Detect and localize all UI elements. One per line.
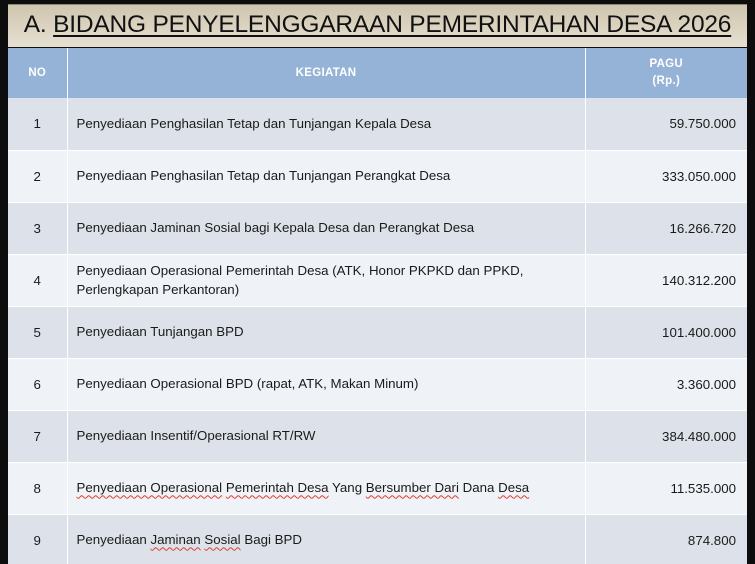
cell-no: 4 xyxy=(8,254,67,306)
column-header-kegiatan: KEGIATAN xyxy=(67,48,585,98)
cell-pagu: 16.266.720 xyxy=(585,202,747,254)
cell-kegiatan: Penyediaan Jaminan Sosial bagi Kepala De… xyxy=(67,202,585,254)
cell-kegiatan: Penyediaan Operasional Pemerintah Desa (… xyxy=(67,254,585,306)
table-body: 1Penyediaan Penghasilan Tetap dan Tunjan… xyxy=(8,98,747,564)
column-header-pagu-line2: (Rp.) xyxy=(652,75,680,87)
cell-kegiatan: Penyediaan Operasional Pemerintah Desa Y… xyxy=(67,462,585,514)
slide-title-banner: A. BIDANG PENYELENGGARAAN PEMERINTAHAN D… xyxy=(8,4,747,47)
cell-pagu: 333.050.000 xyxy=(585,150,747,202)
cell-kegiatan: Penyediaan Penghasilan Tetap dan Tunjang… xyxy=(67,98,585,150)
column-header-no: NO xyxy=(8,48,67,98)
table-row: 4Penyediaan Operasional Pemerintah Desa … xyxy=(8,254,747,306)
cell-kegiatan: Penyediaan Tunjangan BPD xyxy=(67,306,585,358)
page-title-main: BIDANG PENYELENGGARAAN PEMERINTAHAN DESA… xyxy=(53,11,731,38)
cell-no: 1 xyxy=(8,98,67,150)
table-row: 8Penyediaan Operasional Pemerintah Desa … xyxy=(8,462,747,514)
table-row: 1Penyediaan Penghasilan Tetap dan Tunjan… xyxy=(8,98,747,150)
table-row: 5Penyediaan Tunjangan BPD101.400.000 xyxy=(8,306,747,358)
cell-no: 3 xyxy=(8,202,67,254)
cell-pagu: 11.535.000 xyxy=(585,462,747,514)
table-row: 6Penyediaan Operasional BPD (rapat, ATK,… xyxy=(8,358,747,410)
table-row: 7Penyediaan Insentif/Operasional RT/RW38… xyxy=(8,410,747,462)
cell-pagu: 59.750.000 xyxy=(585,98,747,150)
cell-kegiatan: Penyediaan Insentif/Operasional RT/RW xyxy=(67,410,585,462)
column-header-pagu-line1: PAGU xyxy=(649,58,683,70)
cell-no: 2 xyxy=(8,150,67,202)
table-header-row: NO KEGIATAN PAGU (Rp.) xyxy=(8,48,747,98)
cell-no: 5 xyxy=(8,306,67,358)
budget-table-container: NO KEGIATAN PAGU (Rp.) 1Penyediaan Pengh… xyxy=(8,48,747,564)
budget-table: NO KEGIATAN PAGU (Rp.) 1Penyediaan Pengh… xyxy=(8,48,747,564)
cell-no: 9 xyxy=(8,514,67,564)
table-row: 9Penyediaan Jaminan Sosial Bagi BPD874.8… xyxy=(8,514,747,564)
cell-kegiatan: Penyediaan Jaminan Sosial Bagi BPD xyxy=(67,514,585,564)
cell-no: 8 xyxy=(8,462,67,514)
column-header-pagu: PAGU (Rp.) xyxy=(585,48,747,98)
slide-canvas: A. BIDANG PENYELENGGARAAN PEMERINTAHAN D… xyxy=(0,0,755,564)
table-header: NO KEGIATAN PAGU (Rp.) xyxy=(8,48,747,98)
page-title-prefix: A. xyxy=(24,11,53,38)
cell-kegiatan: Penyediaan Operasional BPD (rapat, ATK, … xyxy=(67,358,585,410)
cell-pagu: 384.480.000 xyxy=(585,410,747,462)
cell-pagu: 3.360.000 xyxy=(585,358,747,410)
cell-kegiatan: Penyediaan Penghasilan Tetap dan Tunjang… xyxy=(67,150,585,202)
cell-no: 7 xyxy=(8,410,67,462)
page-title: A. BIDANG PENYELENGGARAAN PEMERINTAHAN D… xyxy=(24,13,731,40)
cell-no: 6 xyxy=(8,358,67,410)
table-row: 3Penyediaan Jaminan Sosial bagi Kepala D… xyxy=(8,202,747,254)
cell-pagu: 874.800 xyxy=(585,514,747,564)
cell-pagu: 140.312.200 xyxy=(585,254,747,306)
cell-pagu: 101.400.000 xyxy=(585,306,747,358)
table-row: 2Penyediaan Penghasilan Tetap dan Tunjan… xyxy=(8,150,747,202)
